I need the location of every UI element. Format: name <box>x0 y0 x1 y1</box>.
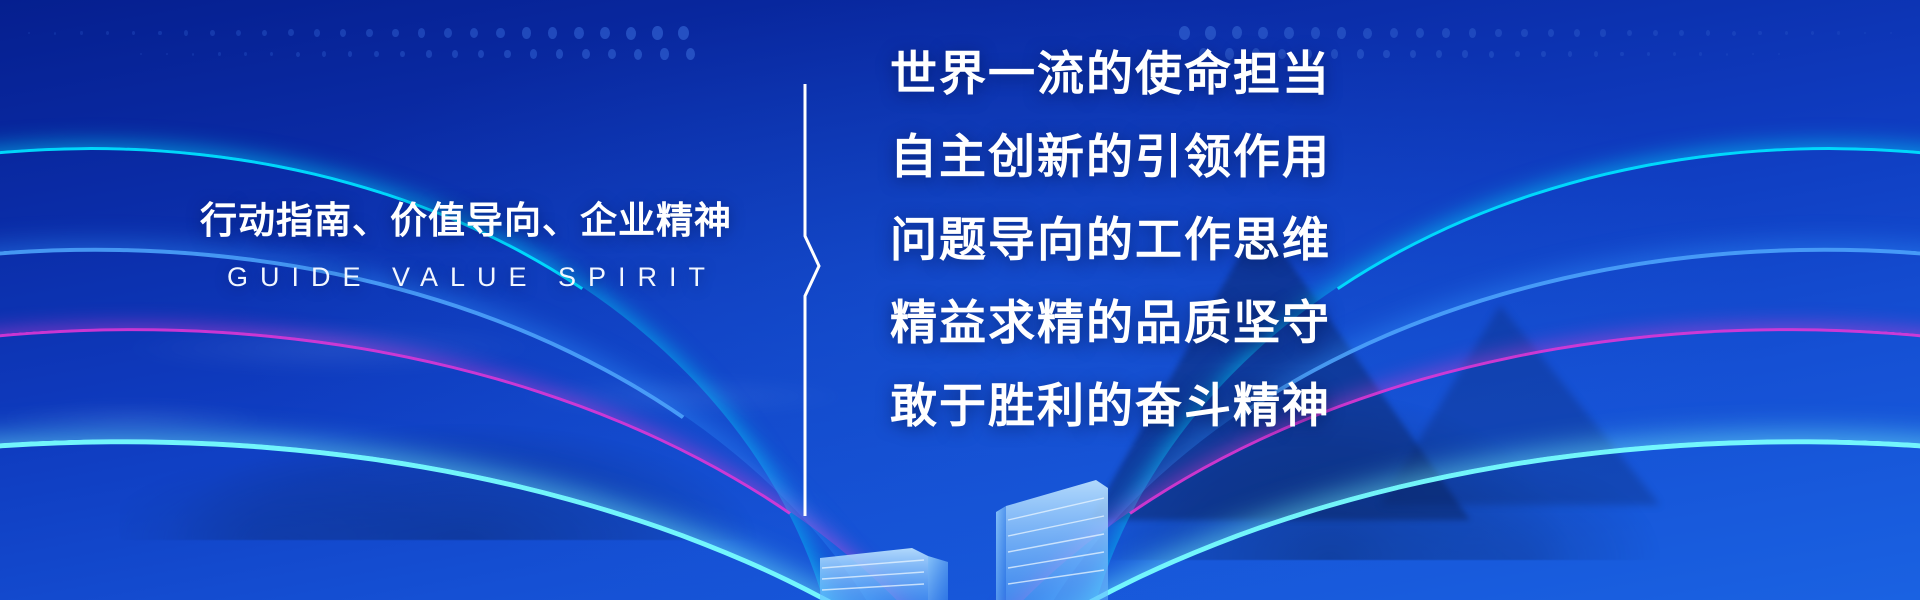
decor-dot <box>1442 28 1450 38</box>
decor-dot <box>478 50 484 58</box>
decor-dot <box>158 31 162 36</box>
decor-dot <box>1653 30 1658 36</box>
decor-dot <box>608 49 616 60</box>
decor-dot <box>314 29 320 37</box>
decor-dot <box>1699 52 1702 56</box>
decor-dot <box>218 52 221 56</box>
decor-dot <box>1284 27 1294 39</box>
decor-dot <box>1785 31 1788 35</box>
decor-dot <box>1489 51 1494 58</box>
decor-dot <box>366 29 373 38</box>
arc-left-cyan-inner <box>0 403 1181 600</box>
decor-dot <box>452 50 458 58</box>
decor-dot <box>1205 26 1216 40</box>
decor-dot <box>1179 26 1190 40</box>
left-slogan-title: 行动指南、价值导向、企业精神 <box>196 198 736 244</box>
decor-dot <box>1706 30 1710 36</box>
decor-dot <box>1778 53 1780 55</box>
right-slogan-block: 世界一流的使命担当 自主创新的引领作用 问题导向的工作思维 精益求精的品质坚守 … <box>890 50 1390 429</box>
decor-dot <box>574 27 584 39</box>
decor-dot <box>400 51 405 58</box>
decor-dot <box>1495 29 1502 38</box>
decor-dot <box>54 32 56 35</box>
decor-dot <box>1627 30 1632 37</box>
decor-dot <box>1462 50 1468 58</box>
right-slogan-line: 问题导向的工作思维 <box>890 216 1390 263</box>
dot-grid-pattern-left <box>0 0 760 70</box>
decor-dot <box>444 28 452 38</box>
right-slogan-line: 精益求精的品质坚守 <box>890 299 1390 346</box>
decor-dot <box>348 51 352 57</box>
decor-dot <box>1436 50 1442 58</box>
decor-dot <box>626 27 636 40</box>
decor-dot <box>548 27 557 39</box>
decor-dot <box>166 53 168 56</box>
decor-dot <box>652 26 663 40</box>
decor-dot <box>80 31 83 34</box>
decor-dot <box>1541 51 1546 57</box>
city-building-silhouette <box>820 450 1120 600</box>
decor-dot <box>1232 26 1242 39</box>
decor-dot <box>140 53 142 55</box>
decor-dot <box>1600 29 1606 36</box>
decor-dot <box>1837 31 1840 34</box>
right-slogan-line: 自主创新的引领作用 <box>890 133 1390 180</box>
decor-dot <box>184 30 188 35</box>
decor-dot <box>522 27 531 38</box>
right-slogan-line: 敢于胜利的奋斗精神 <box>890 382 1390 429</box>
decor-dot <box>634 49 642 60</box>
decor-dot <box>1758 31 1762 36</box>
decor-dot <box>660 48 669 60</box>
decor-dot <box>678 26 689 40</box>
decor-dot <box>244 52 247 56</box>
decor-dot <box>1752 53 1754 56</box>
decor-dot <box>192 53 194 56</box>
decor-dot <box>1410 50 1416 58</box>
decor-dot <box>106 31 109 35</box>
decor-dot <box>1515 51 1520 58</box>
decor-dot <box>392 29 399 38</box>
decor-dot <box>1311 27 1320 39</box>
decor-dot <box>296 52 300 57</box>
decor-dot <box>470 28 478 38</box>
decor-dot <box>1390 28 1398 39</box>
decor-dot <box>1521 29 1528 38</box>
decor-dot <box>686 48 695 60</box>
decor-dot <box>1726 53 1728 56</box>
decor-dot <box>1647 52 1650 56</box>
decor-dot <box>1568 51 1572 57</box>
decor-dot <box>1732 31 1736 36</box>
decor-dot <box>1469 28 1476 37</box>
decor-dot <box>504 50 511 59</box>
left-slogan-subtitle: GUIDE VALUE SPIRIT <box>196 262 736 293</box>
arc-right-cyan-inner <box>739 403 1920 600</box>
decor-dot <box>1864 32 1866 35</box>
decor-dot <box>530 49 537 58</box>
decor-dot <box>236 30 241 36</box>
mountain-peak-secondary <box>1380 305 1660 505</box>
decor-dot <box>210 30 215 36</box>
culture-banner: 行动指南、价值导向、企业精神 GUIDE VALUE SPIRIT 世界一流的使… <box>0 0 1920 600</box>
decor-dot <box>582 49 590 59</box>
decor-dot <box>262 30 267 37</box>
decor-dot <box>1673 52 1676 56</box>
decor-dot <box>374 51 379 57</box>
decor-dot <box>1594 51 1598 56</box>
right-slogan-line: 世界一流的使命担当 <box>890 50 1390 97</box>
decor-dot <box>1811 31 1814 35</box>
decor-dot <box>1363 28 1372 39</box>
decor-dot <box>418 28 425 37</box>
decor-dot <box>1890 32 1892 35</box>
decor-dot <box>340 29 346 37</box>
decor-dot <box>556 49 563 59</box>
decor-dot <box>496 28 505 39</box>
chevron-right-notch-divider <box>786 84 826 516</box>
arc-left-cyan-outer <box>0 57 917 600</box>
decor-dot <box>1679 30 1684 36</box>
left-slogan-block: 行动指南、价值导向、企业精神 GUIDE VALUE SPIRIT <box>196 198 736 293</box>
decor-dot <box>28 32 30 35</box>
decor-dot <box>426 50 432 57</box>
decor-dot <box>132 31 135 35</box>
decor-dot <box>270 52 273 57</box>
decor-dot <box>1416 28 1424 38</box>
decor-dot <box>322 51 326 56</box>
decor-dot <box>1548 29 1554 37</box>
decor-dot <box>1337 27 1346 38</box>
decor-dot <box>1258 27 1268 40</box>
decor-dot <box>600 27 610 40</box>
decor-dot <box>1620 52 1624 57</box>
decor-dot <box>288 29 294 36</box>
decor-dot <box>1574 29 1580 37</box>
